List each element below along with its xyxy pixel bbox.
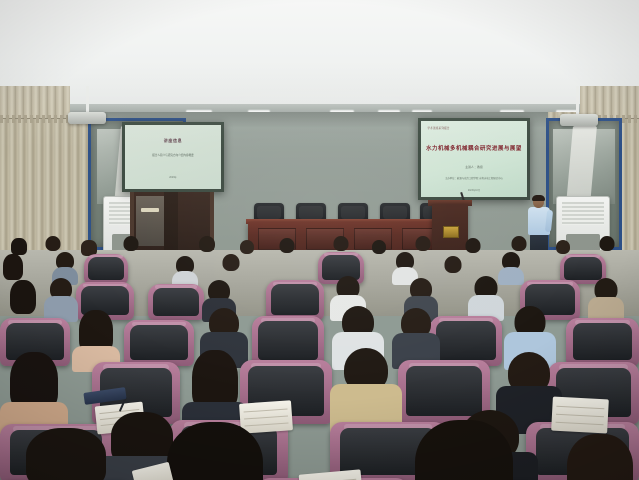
- notebook-line: [244, 408, 288, 412]
- attendee: [330, 348, 402, 428]
- attendee-head: [280, 238, 295, 253]
- slide-right-header: 学术讲座系列报告: [427, 126, 449, 130]
- attendee-head: [445, 256, 462, 273]
- projection-screen-left: 讲座信息 报告人简介与研究方向介绍内容概要 2023年: [122, 122, 224, 192]
- attendee: [6, 428, 126, 480]
- attendee: [172, 256, 198, 286]
- slide-left-date: 2023年: [125, 175, 221, 179]
- slide-right-title: 水力机械多机械耦合研究进展与展望: [421, 144, 527, 152]
- projection-screen-right: 学术讲座系列报告 水力机械多机械耦合研究进展与展望 主讲人 ：教授 主办单位：能…: [418, 118, 530, 200]
- attendee-head: [334, 236, 349, 251]
- corridor-lamp: [141, 208, 159, 212]
- seat-pad: [436, 321, 495, 360]
- slide-right-organization: 主办单位：能源与动力工程学院 水利水电工程研究中心: [421, 176, 527, 180]
- attendee: [588, 278, 624, 320]
- attendee-head: [46, 236, 61, 251]
- attendee: [560, 434, 639, 480]
- curtain-valance-left: [0, 86, 70, 119]
- seat-pad: [258, 321, 317, 360]
- attendee-head: [416, 236, 431, 251]
- slide-left-subtitle: 报告人简介与研究方向介绍内容概要: [125, 153, 221, 157]
- seat-pad: [153, 288, 199, 316]
- attendee-head: [199, 236, 215, 252]
- seat-pad: [406, 366, 481, 416]
- attendee-head: [512, 236, 527, 251]
- attendee: [468, 276, 504, 320]
- notebook-line: [244, 415, 288, 419]
- attendee: [182, 350, 248, 428]
- attendee-hair: [415, 420, 513, 480]
- attendee: [0, 352, 68, 428]
- projector-mount-left: [86, 86, 89, 114]
- attendee: [368, 240, 390, 260]
- attendee-head: [556, 240, 570, 254]
- seat-pad: [564, 257, 602, 280]
- seat[interactable]: [84, 254, 128, 284]
- ac-grill-right: [562, 202, 604, 224]
- slide-right: 学术讲座系列报告 水力机械多机械耦合研究进展与展望 主讲人 ：教授 主办单位：能…: [421, 121, 527, 197]
- notebook-line: [557, 406, 604, 409]
- seat[interactable]: [566, 318, 639, 366]
- attendee-head: [600, 236, 615, 251]
- seat[interactable]: [266, 280, 324, 320]
- ceiling: [0, 0, 639, 112]
- attendee: [120, 236, 142, 258]
- projector-mount-right: [576, 86, 579, 116]
- presenter-arm: [545, 210, 553, 233]
- slide-left: 讲座信息 报告人简介与研究方向介绍内容概要 2023年: [125, 125, 221, 189]
- seat-pad: [271, 284, 319, 315]
- attendee-head: [240, 240, 254, 254]
- notebook: [551, 397, 609, 434]
- slide-right-presenter: 主讲人 ：教授: [421, 165, 527, 169]
- slide-right-date: 2023年10月: [421, 188, 527, 192]
- seat[interactable]: [148, 284, 204, 320]
- presenter-hair: [532, 195, 545, 201]
- notebook: [299, 469, 364, 480]
- attendee-head: [466, 238, 481, 253]
- attendee-hair: [26, 428, 106, 480]
- notebook-line: [556, 414, 603, 417]
- attendee-hair: [167, 422, 263, 480]
- audience: [0, 236, 639, 480]
- seat[interactable]: [252, 316, 324, 366]
- seat-pad: [88, 257, 124, 280]
- notebook-line: [556, 422, 603, 425]
- seat-pad: [130, 325, 187, 361]
- seat[interactable]: [430, 316, 502, 366]
- attendee-hair: [3, 254, 23, 280]
- attendee: [196, 236, 218, 258]
- auditorium-photo: 讲座信息 报告人简介与研究方向介绍内容概要 2023年 学术讲座系列报告 水力机…: [0, 0, 639, 480]
- seat-pad: [573, 323, 633, 360]
- projector-left: [68, 112, 106, 124]
- attendee-hair: [11, 238, 27, 255]
- attendee-hair: [567, 434, 633, 480]
- projector-right: [560, 114, 598, 126]
- attendee-hair: [10, 280, 36, 314]
- attendee: [440, 256, 466, 286]
- attendee: [6, 280, 40, 320]
- attendee: [72, 310, 120, 366]
- attendee-head: [124, 236, 139, 251]
- attendee: [396, 420, 532, 480]
- attendee-head: [372, 240, 386, 254]
- slide-left-title: 讲座信息: [125, 138, 221, 144]
- attendee: [276, 238, 298, 260]
- attendee-head: [223, 254, 240, 271]
